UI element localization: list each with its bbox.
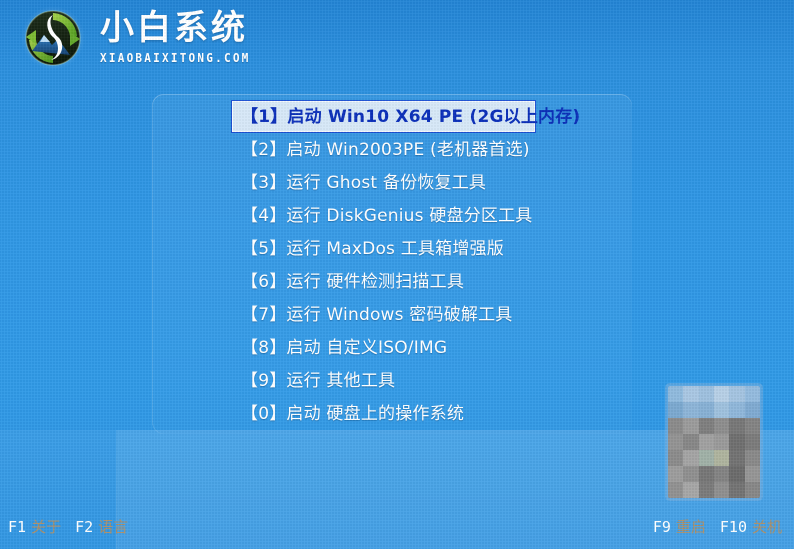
mosaic-cell (683, 402, 698, 418)
mosaic-cell (699, 434, 714, 450)
mosaic-cell (699, 450, 714, 466)
mosaic-cell (745, 434, 760, 450)
mosaic-cell (729, 386, 744, 402)
boot-menu-screen: 小白系统 XIAOBAIXITONG.COM 【1】启动 Win10 X64 P… (0, 0, 794, 549)
mosaic-cell (683, 418, 698, 434)
mosaic-cell (699, 466, 714, 482)
mosaic-cell (745, 450, 760, 466)
mosaic-cell (668, 466, 683, 482)
mosaic-cell (699, 386, 714, 402)
boot-menu-item-4[interactable]: 【4】运行 DiskGenius 硬盘分区工具 (231, 199, 561, 232)
mosaic-cell (683, 450, 698, 466)
xiaobai-recycle-logo-icon (20, 5, 86, 71)
hint-key: F9 (653, 518, 671, 536)
hint-key: F1 (8, 518, 26, 536)
brand-url: XIAOBAIXITONG.COM (100, 51, 251, 65)
mosaic-cell (729, 418, 744, 434)
hint-label: 关机 (752, 518, 782, 536)
mosaic-cell (714, 402, 729, 418)
boot-menu-item-6[interactable]: 【6】运行 硬件检测扫描工具 (231, 265, 561, 298)
mosaic-cell (729, 482, 744, 498)
mosaic-cell (699, 418, 714, 434)
mosaic-cell (683, 386, 698, 402)
mosaic-cell (714, 386, 729, 402)
brand-text: 小白系统 XIAOBAIXITONG.COM (100, 11, 264, 65)
brand-header: 小白系统 XIAOBAIXITONG.COM (0, 0, 794, 78)
hint-label: 关于 (31, 518, 61, 536)
mosaic-cell (745, 418, 760, 434)
mosaic-cell (668, 418, 683, 434)
mosaic-cell (745, 386, 760, 402)
hint-key: F10 (720, 518, 747, 536)
hint-label: 语言 (98, 518, 128, 536)
mosaic-cell (683, 466, 698, 482)
mosaic-cell (699, 402, 714, 418)
mosaic-cell (714, 418, 729, 434)
mosaic-cell (668, 450, 683, 466)
mosaic-cell (668, 402, 683, 418)
mosaic-cell (699, 482, 714, 498)
hint-f2[interactable]: F2语言 (75, 516, 128, 537)
hint-f9[interactable]: F9重启 (653, 516, 706, 537)
mosaic-cell (668, 386, 683, 402)
logo-lockup: 小白系统 XIAOBAIXITONG.COM (20, 5, 264, 71)
mosaic-cell (714, 482, 729, 498)
mosaic-cell (729, 450, 744, 466)
mosaic-cell (729, 466, 744, 482)
boot-menu-list[interactable]: 【1】启动 Win10 X64 PE (2G以上内存)【2】启动 Win2003… (231, 100, 561, 430)
mosaic-cell (683, 482, 698, 498)
mosaic-cell (714, 434, 729, 450)
mosaic-cell (668, 434, 683, 450)
mosaic-cell (714, 450, 729, 466)
function-key-hints-left: F1关于F2语言 (8, 516, 142, 537)
boot-menu-item-8[interactable]: 【8】启动 自定义ISO/IMG (231, 331, 561, 364)
hint-key: F2 (75, 518, 93, 536)
boot-menu-item-1[interactable]: 【1】启动 Win10 X64 PE (2G以上内存) (231, 100, 536, 133)
boot-menu-item-10[interactable]: 【0】启动 硬盘上的操作系统 (231, 397, 561, 430)
censored-mosaic-block (668, 386, 760, 498)
mosaic-cell (714, 466, 729, 482)
function-key-hints-right: F9重启F10关机 (653, 516, 782, 537)
boot-menu-item-3[interactable]: 【3】运行 Ghost 备份恢复工具 (231, 166, 561, 199)
boot-menu-item-9[interactable]: 【9】运行 其他工具 (231, 364, 561, 397)
mosaic-cell (683, 434, 698, 450)
mosaic-cell (668, 482, 683, 498)
hint-label: 重启 (676, 518, 706, 536)
brand-name: 小白系统 (100, 11, 264, 45)
hint-f1[interactable]: F1关于 (8, 516, 61, 537)
boot-menu-item-5[interactable]: 【5】运行 MaxDos 工具箱增强版 (231, 232, 561, 265)
mosaic-cell (729, 402, 744, 418)
boot-menu-item-7[interactable]: 【7】运行 Windows 密码破解工具 (231, 298, 561, 331)
mosaic-cell (745, 402, 760, 418)
hint-f10[interactable]: F10关机 (720, 516, 782, 537)
mosaic-cell (729, 434, 744, 450)
mosaic-cell (745, 466, 760, 482)
boot-menu-item-2[interactable]: 【2】启动 Win2003PE (老机器首选) (231, 133, 561, 166)
mosaic-cell (745, 482, 760, 498)
